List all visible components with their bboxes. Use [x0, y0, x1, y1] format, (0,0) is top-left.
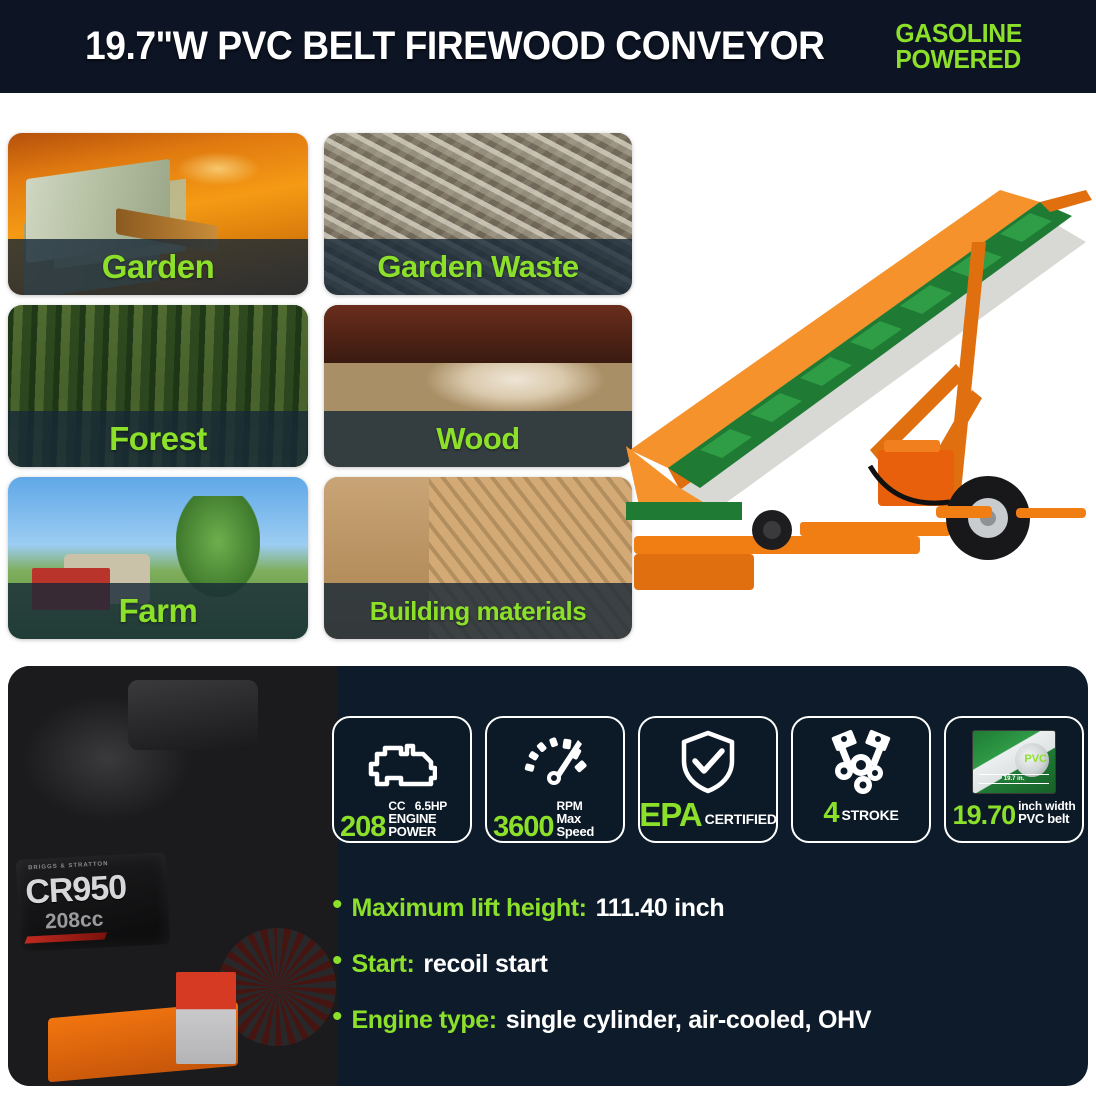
belt-dimension-arrow: 19.7 in. — [979, 774, 1049, 784]
engine-displacement-text: 208cc — [44, 907, 104, 934]
application-card-building-materials: Building materials — [324, 477, 632, 639]
feature-badge-stroke: 4 STROKE — [791, 716, 931, 843]
badge-value: 208 — [340, 814, 385, 840]
bullet-icon: • — [332, 952, 343, 970]
card-label: Garden — [102, 248, 215, 286]
conveyor-illustration — [620, 150, 1096, 650]
card-label-band: Wood — [324, 411, 632, 467]
bullet-icon: • — [332, 896, 343, 914]
badge-value: 3600 — [493, 814, 554, 840]
spec-value: single cylinder, air-cooled, OHV — [506, 1006, 872, 1035]
spec-label: Maximum lift height: — [352, 894, 587, 923]
spec-item-engine-type: • Engine type: single cylinder, air-cool… — [332, 1006, 1052, 1035]
pvc-belt-thumbnail: PVC 19.7 in. — [972, 730, 1056, 794]
engine-housing — [878, 450, 954, 506]
page-title: 19.7"W PVC BELT FIREWOOD CONVEYOR — [85, 24, 824, 69]
card-label-band: Building materials — [324, 583, 632, 639]
card-label-band: Forest — [8, 411, 308, 467]
badge-unit: CC 6.5HP ENGINE POWER — [388, 800, 464, 840]
card-label: Forest — [109, 420, 207, 458]
engine-model-text: CR950 — [24, 868, 127, 912]
badge-value-row: 19.70 inch width PVC belt — [946, 800, 1082, 827]
engine-plate-stripe — [25, 932, 108, 943]
chassis-cross-member — [800, 522, 950, 536]
lower-belt-section — [626, 502, 742, 520]
badge-line-2: POWERED — [895, 47, 1022, 72]
spec-value: recoil start — [423, 950, 547, 979]
application-card-garden-waste: Garden Waste — [324, 133, 632, 295]
gasoline-powered-badge: GASOLINE POWERED — [895, 21, 1022, 72]
spec-item-start: • Start: recoil start — [332, 950, 1052, 979]
speedometer-icon — [520, 724, 590, 800]
card-label-band: Garden — [8, 239, 308, 295]
badge-value: 4 — [823, 800, 838, 826]
badge-unit-line-2: STROKE — [842, 807, 899, 826]
card-label: Wood — [436, 421, 520, 457]
card-label: Garden Waste — [377, 249, 578, 285]
application-card-grid: Garden Garden Waste Forest Wood Farm Bui… — [8, 133, 632, 643]
badge-value-row: 3600 RPM Max Speed — [487, 800, 623, 840]
pistons-gears-icon — [825, 724, 897, 800]
badge-unit: RPM Max Speed — [557, 800, 617, 840]
card-label-band: Farm — [8, 583, 308, 639]
badge-value-row: 208 CC 6.5HP ENGINE POWER — [334, 800, 470, 840]
tow-bar — [1016, 508, 1086, 518]
application-card-forest: Forest — [8, 305, 308, 467]
pvc-belt-photo-icon: PVC 19.7 in. — [972, 724, 1056, 800]
feature-badge-epa: EPA CERTIFIED — [638, 716, 778, 843]
feature-badge-belt-width: PVC 19.7 in. 19.70 inch width PVC belt — [944, 716, 1084, 843]
card-label: Farm — [119, 592, 198, 630]
spec-item-lift-height: • Maximum lift height: 111.40 inch — [332, 894, 1052, 923]
spec-value: 111.40 inch — [596, 894, 725, 923]
badge-value: EPA — [639, 800, 701, 830]
bullet-icon: • — [332, 1008, 343, 1026]
specifications-panel: BRIGGS & STRATTON CR950 208cc 208 CC 6.5… — [8, 666, 1088, 1086]
badge-unit: inch width PVC belt — [1018, 800, 1075, 827]
conveyor-top-tip — [1040, 190, 1092, 212]
chassis-foot — [634, 554, 754, 590]
badge-value-row: 4 STROKE — [793, 800, 929, 826]
engine-block-icon — [367, 724, 437, 800]
engine-photo: BRIGGS & STRATTON CR950 208cc — [8, 666, 338, 1086]
feature-badge-row: 208 CC 6.5HP ENGINE POWER — [332, 716, 1084, 843]
badge-unit-line-2: PVC belt — [1018, 812, 1075, 825]
wheel-axle-arm — [936, 506, 992, 518]
card-label: Building materials — [370, 596, 586, 627]
feature-badge-max-speed: 3600 RPM Max Speed — [485, 716, 625, 843]
engine-warning-label — [176, 972, 236, 1064]
engine-housing-lid — [884, 440, 940, 452]
engine-air-filter — [128, 680, 258, 750]
badge-unit-line-2: Max Speed — [557, 812, 617, 838]
application-card-wood: Wood — [324, 305, 632, 467]
application-card-farm: Farm — [8, 477, 308, 639]
belt-dimension-text: 19.7 in. — [1002, 776, 1026, 782]
spec-label: Engine type: — [352, 1006, 497, 1035]
header-bar: 19.7"W PVC BELT FIREWOOD CONVEYOR GASOLI… — [0, 0, 1096, 93]
badge-value: 19.70 — [953, 803, 1016, 827]
badge-unit-line-2: ENGINE POWER — [388, 812, 464, 838]
pvc-thumb-label: PVC — [1024, 753, 1047, 765]
engine-name-plate: BRIGGS & STRATTON CR950 208cc — [16, 852, 171, 952]
conveyor-side-rail — [630, 190, 1040, 468]
card-label-band: Garden Waste — [324, 239, 632, 295]
application-card-garden: Garden — [8, 133, 308, 295]
spec-label: Start: — [352, 950, 415, 979]
spec-list: • Maximum lift height: 111.40 inch • Sta… — [332, 894, 1052, 1062]
feature-badge-engine-power: 208 CC 6.5HP ENGINE POWER — [332, 716, 472, 843]
badge-value-row: EPA CERTIFIED — [640, 800, 776, 830]
shield-check-icon — [678, 724, 738, 800]
badge-unit-line-2: CERTIFIED — [705, 811, 777, 830]
product-image-conveyor — [620, 150, 1096, 650]
